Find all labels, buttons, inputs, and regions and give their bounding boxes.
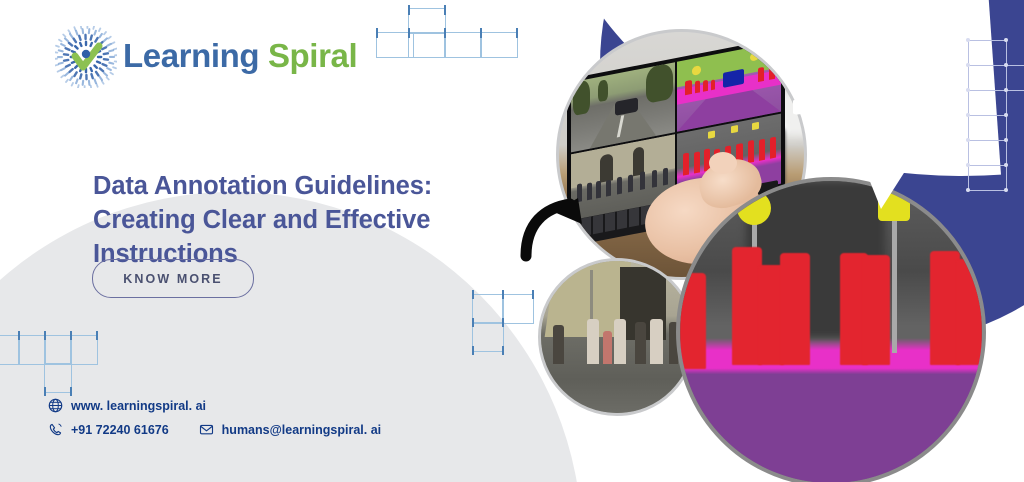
- sign-pole-right: [892, 217, 897, 353]
- pedestrian-child: [603, 331, 612, 364]
- brand-name-part1: Learning: [123, 37, 259, 74]
- grid-ornament-bottom-left: [0, 335, 96, 391]
- pedestrian-segment: [780, 253, 810, 365]
- page-title: Data Annotation Guidelines: Creating Cle…: [93, 169, 523, 271]
- envelope-icon: [199, 422, 214, 437]
- contact-info: www. learningspiral. ai +91 72240 61676 …: [48, 398, 411, 446]
- grid-ornament-right: [968, 40, 1024, 190]
- sunburst-check-logo-icon: [55, 26, 117, 88]
- contact-email[interactable]: humans@learningspiral. ai: [199, 422, 381, 437]
- know-more-button[interactable]: KNOW MORE: [92, 259, 254, 298]
- pedestrian: [587, 319, 599, 365]
- segmented-pedestrians-photo: [676, 177, 986, 482]
- thumb: [709, 152, 737, 174]
- contact-row-phone-email: +91 72240 61676 humans@learningspiral. a…: [48, 422, 411, 437]
- marketing-banner: Learning Spiral Data Annotation Guidelin…: [0, 0, 1024, 482]
- pedestrian-segment: [956, 259, 982, 365]
- grid-ornament-middle: [472, 294, 532, 352]
- contact-website[interactable]: www. learningspiral. ai: [48, 398, 206, 413]
- email-text: humans@learningspiral. ai: [222, 423, 381, 437]
- curved-arrow-up-right-icon: [518, 190, 590, 262]
- brand-name: Learning Spiral: [123, 37, 357, 75]
- pedestrian-segment: [862, 255, 890, 365]
- contact-phone[interactable]: +91 72240 61676: [48, 422, 169, 437]
- phone-icon: [48, 422, 63, 437]
- contact-row-website: www. learningspiral. ai: [48, 398, 411, 413]
- pedestrian-segment: [680, 273, 706, 369]
- street-pedestrians-photo: [538, 258, 696, 416]
- brand-logo[interactable]: Learning Spiral: [55, 26, 325, 88]
- pedestrian: [553, 325, 564, 365]
- website-text: www. learningspiral. ai: [71, 399, 206, 413]
- pedestrian: [635, 322, 646, 365]
- brand-name-part2: Spiral: [268, 37, 357, 74]
- phone-text: +91 72240 61676: [71, 423, 169, 437]
- globe-icon: [48, 398, 63, 413]
- curved-arrow-right-down-icon: [793, 95, 915, 213]
- pedestrian: [650, 319, 662, 365]
- pedestrian: [614, 319, 626, 365]
- round-sign-icon: [737, 191, 771, 225]
- grid-ornament-top: [376, 8, 516, 58]
